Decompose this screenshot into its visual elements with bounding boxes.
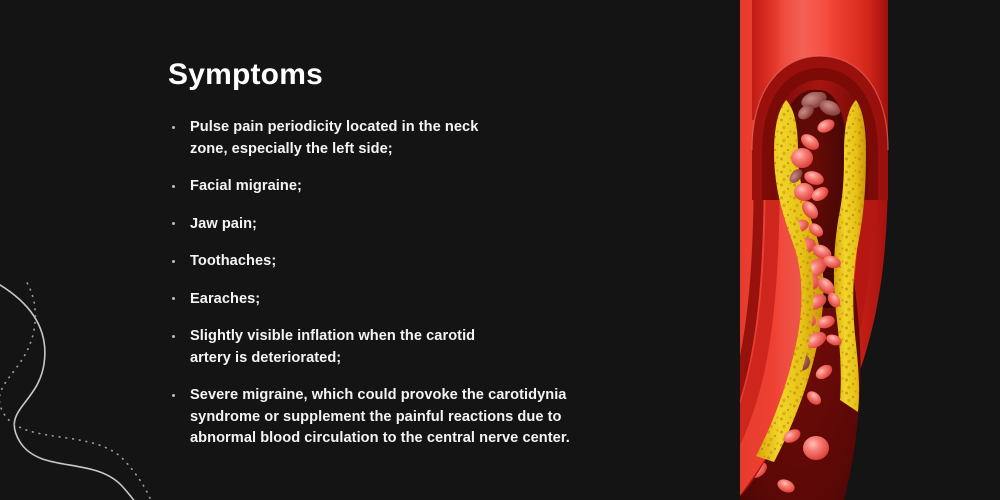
page-title: Symptoms — [168, 58, 648, 91]
list-item: Pulse pain periodicity located in the ne… — [168, 117, 648, 160]
list-item: Facial migraine; — [168, 176, 648, 198]
symptom-list: Pulse pain periodicity located in the ne… — [168, 117, 648, 450]
artery-illustration — [740, 0, 1000, 500]
list-item: Toothaches; — [168, 251, 648, 273]
list-item: Jaw pain; — [168, 214, 648, 236]
list-item: Earaches; — [168, 289, 648, 311]
list-item: Severe migraine, which could provoke the… — [168, 385, 648, 450]
list-item: Slightly visible inflation when the caro… — [168, 326, 648, 369]
decorative-solid-wave — [0, 280, 148, 500]
slide-canvas: Symptoms Pulse pain periodicity located … — [0, 0, 1000, 500]
text-column: Symptoms Pulse pain periodicity located … — [168, 58, 648, 450]
